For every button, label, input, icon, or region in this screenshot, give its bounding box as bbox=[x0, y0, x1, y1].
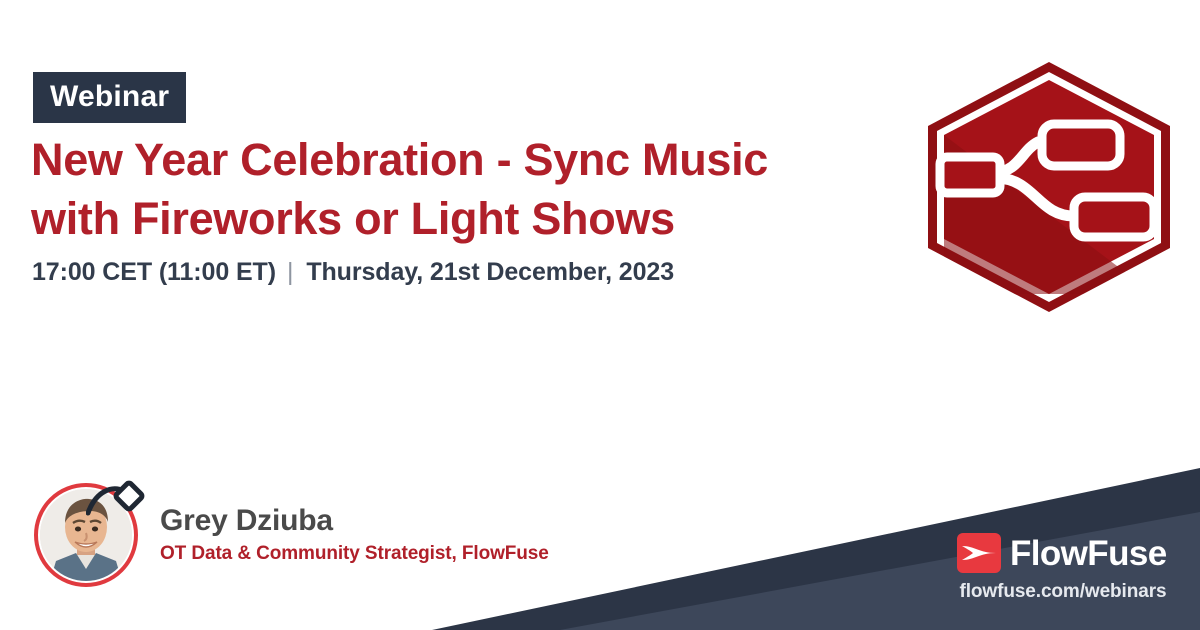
title-line-1: New Year Celebration - Sync Music bbox=[31, 130, 891, 189]
title-line-2: with Fireworks or Light Shows bbox=[31, 189, 891, 248]
avatar bbox=[34, 483, 138, 587]
speaker-role: OT Data & Community Strategist, FlowFuse bbox=[160, 543, 549, 566]
webinar-badge: Webinar bbox=[33, 72, 186, 123]
schedule-separator: | bbox=[287, 258, 293, 287]
speaker-block: Grey Dziuba OT Data & Community Strategi… bbox=[34, 483, 549, 587]
flowfuse-brand[interactable]: FlowFuse flowfuse.com/webinars bbox=[957, 533, 1169, 601]
schedule-time: 17:00 CET (11:00 ET) bbox=[32, 258, 276, 287]
page-title: New Year Celebration - Sync Music with F… bbox=[31, 130, 891, 249]
brand-name: FlowFuse bbox=[1010, 536, 1167, 571]
speaker-text: Grey Dziuba OT Data & Community Strategi… bbox=[160, 504, 549, 565]
speaker-name: Grey Dziuba bbox=[160, 504, 549, 539]
flowfuse-mark-icon bbox=[957, 533, 1001, 573]
schedule-line: 17:00 CET (11:00 ET) | Thursday, 21st De… bbox=[32, 258, 674, 287]
node-red-hexagon-icon bbox=[922, 58, 1176, 316]
webinar-promo-card: Webinar New Year Celebration - Sync Musi… bbox=[0, 0, 1200, 630]
brand-url[interactable]: flowfuse.com/webinars bbox=[957, 582, 1169, 601]
brand-row: FlowFuse bbox=[957, 533, 1169, 573]
node-wire-diamond-icon bbox=[86, 479, 150, 533]
schedule-date: Thursday, 21st December, 2023 bbox=[306, 258, 674, 287]
